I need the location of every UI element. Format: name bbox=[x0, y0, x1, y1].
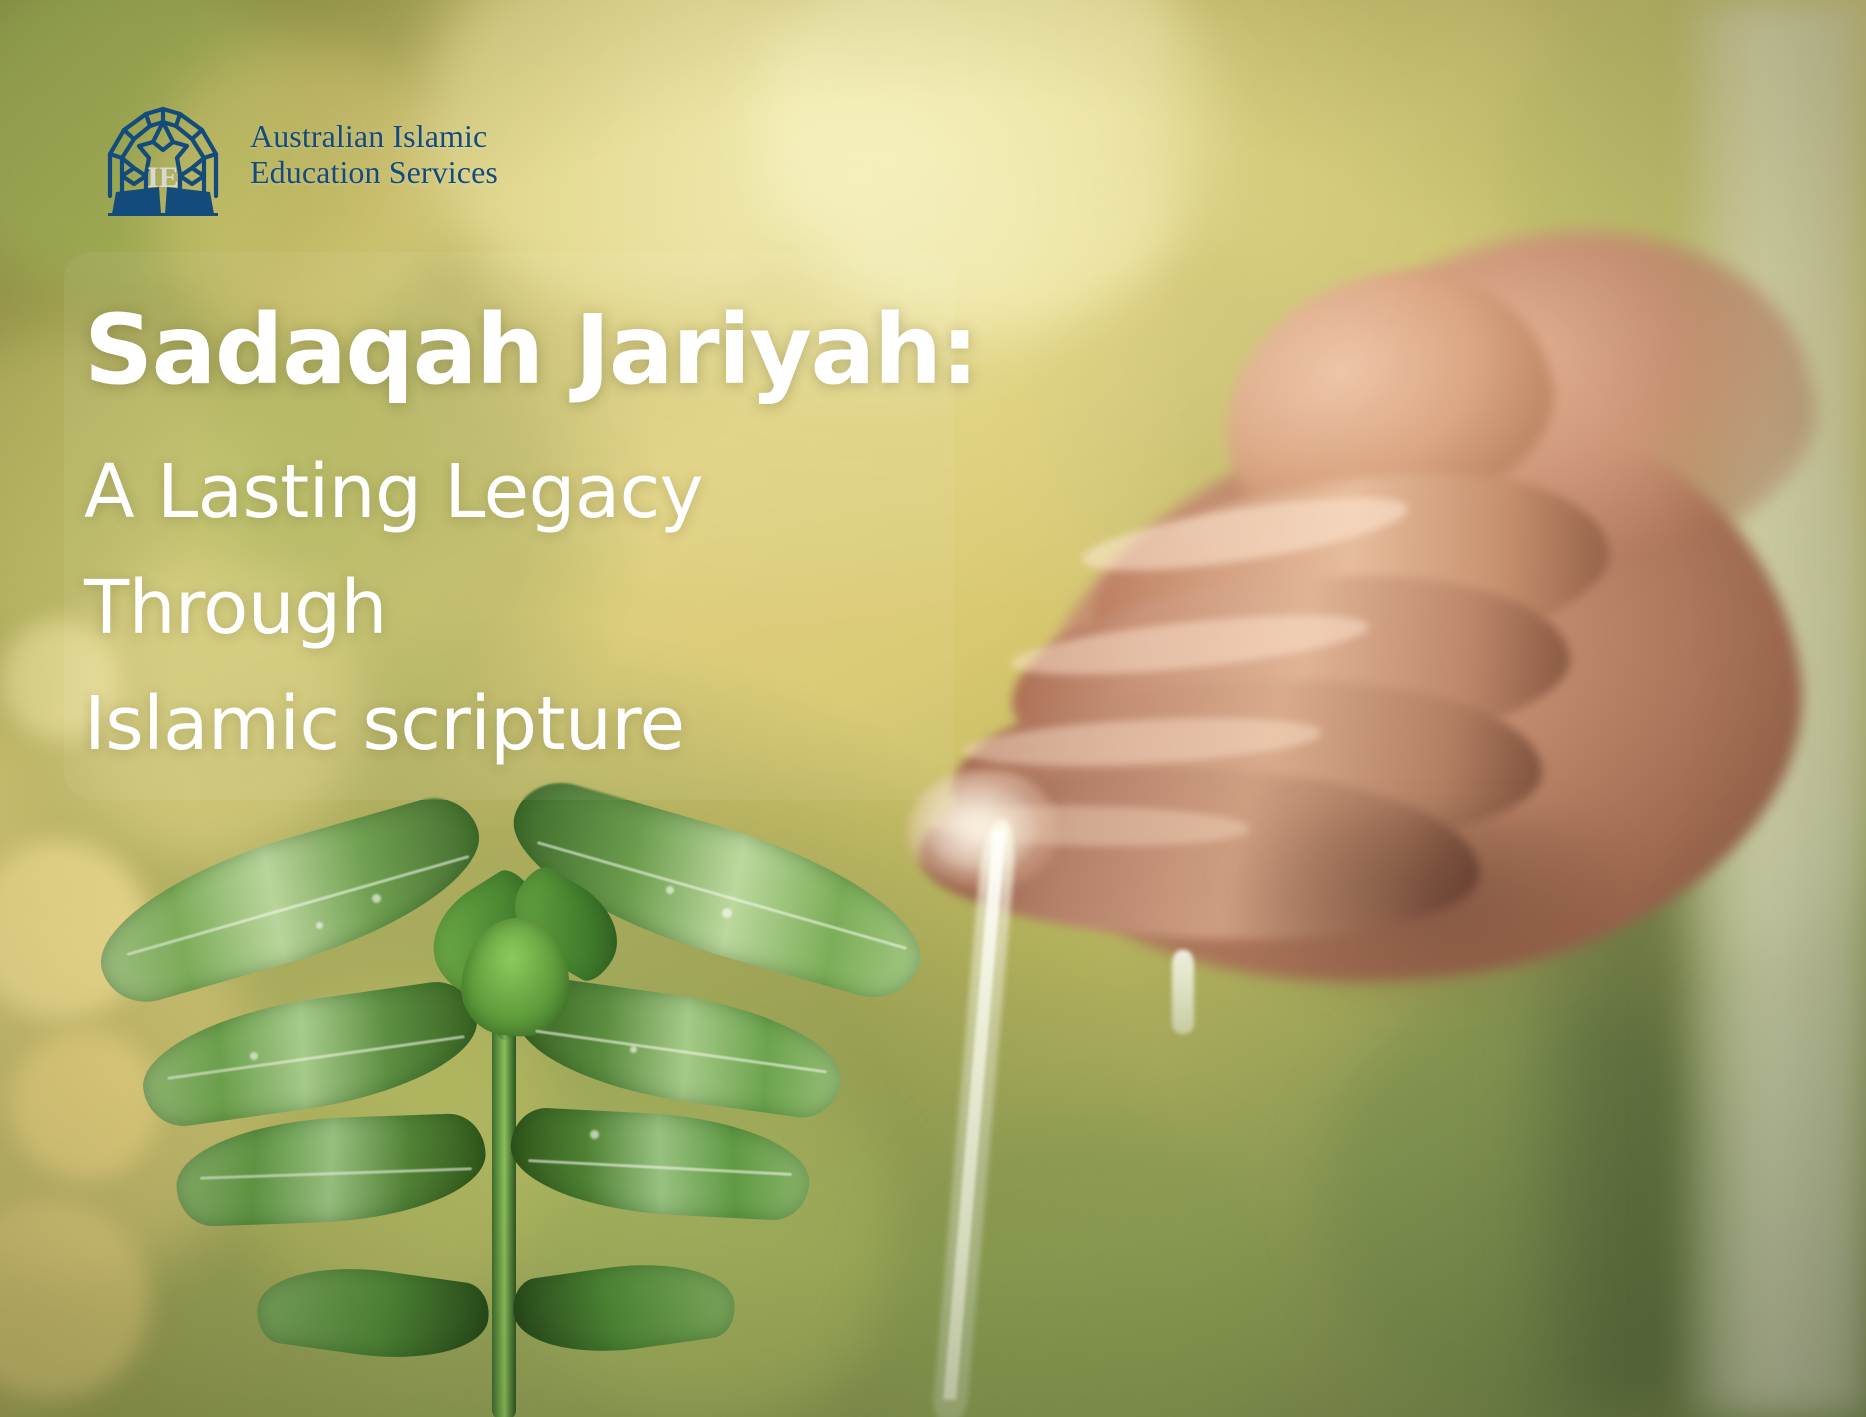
hero-copy: Sadaqah Jariyah: A Lasting Legacy Throug… bbox=[84, 300, 984, 761]
brand-name: Australian Islamic Education Services bbox=[250, 118, 498, 190]
page-title: Sadaqah Jariyah: bbox=[84, 300, 984, 401]
brand-name-line-2: Education Services bbox=[250, 154, 498, 190]
brand-logo[interactable]: IE Australian Islamic Education Services bbox=[104, 92, 498, 216]
hero-subtitle-line-2: Through bbox=[84, 571, 984, 645]
brand-name-line-1: Australian Islamic bbox=[250, 118, 487, 154]
hero-subtitle-line-3: Islamic scripture bbox=[84, 687, 984, 761]
hero-subtitle-line-1: A Lasting Legacy bbox=[84, 455, 984, 529]
islamic-arch-book-logo-icon: IE bbox=[104, 92, 222, 216]
hero-banner: IE Australian Islamic Education Services… bbox=[0, 0, 1866, 1417]
